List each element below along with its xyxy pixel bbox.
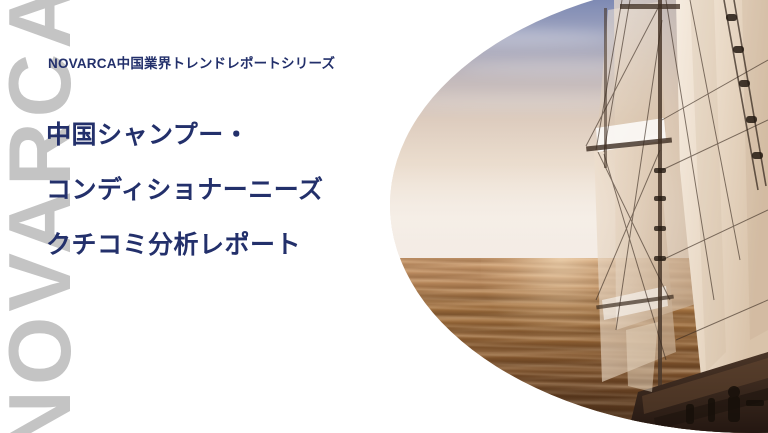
- page-title: 中国シャンプー・ コンディショナーニーズ クチコミ分析レポート: [46, 108, 406, 273]
- title-line: 中国シャンプー・: [46, 108, 406, 163]
- sailing-ship: [390, 0, 768, 433]
- hero-photo-container: [390, 0, 768, 433]
- title-text-column: NOVARCA中国業界トレンドレポートシリーズ 中国シャンプー・ コンディショナ…: [0, 0, 420, 433]
- title-line: クチコミ分析レポート: [46, 218, 406, 273]
- series-eyebrow: NOVARCA中国業界トレンドレポートシリーズ: [48, 52, 335, 72]
- jib-sail: [626, 322, 658, 392]
- title-line: コンディショナーニーズ: [46, 163, 406, 218]
- sailing-ship-illustration: [390, 0, 768, 433]
- hero-photo: [390, 0, 768, 433]
- title-slide: NOVARCA: [0, 0, 768, 433]
